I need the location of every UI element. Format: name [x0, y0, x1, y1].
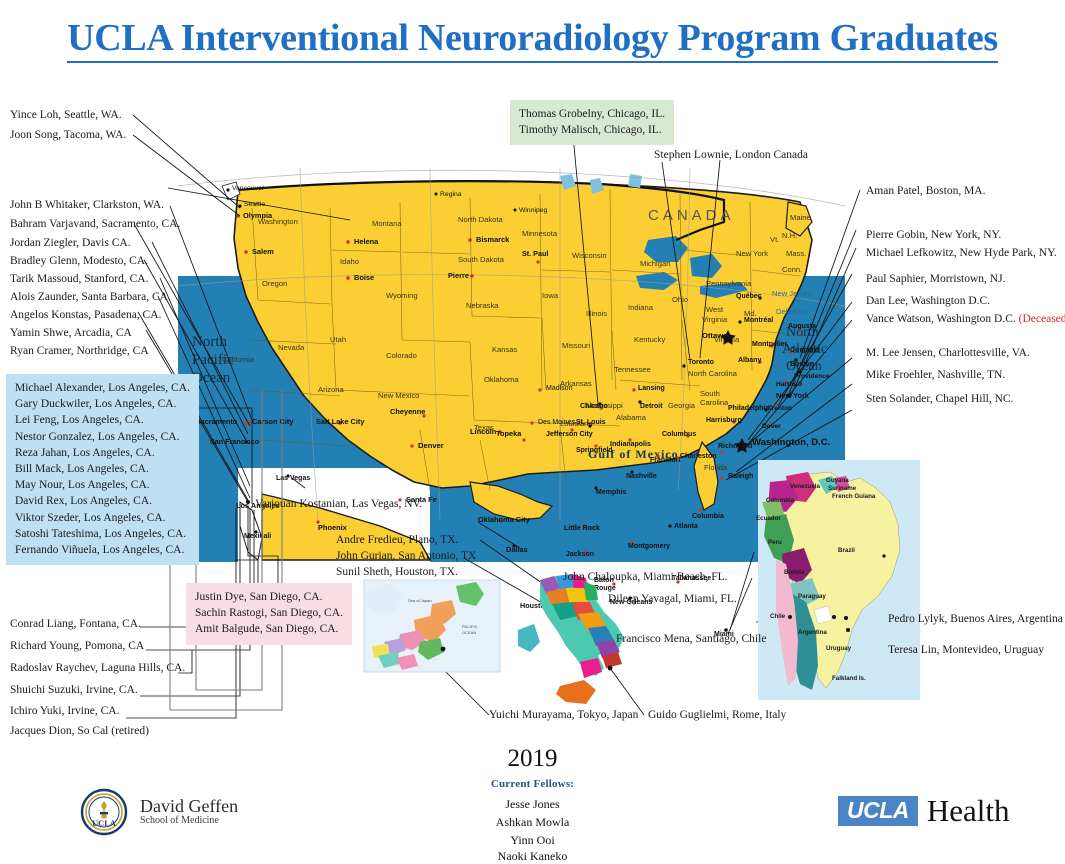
label-ryan-cramer: Ryan Cramer, Northridge, CA	[10, 344, 149, 358]
list-item: Amit Balgude, San Diego, CA.	[195, 621, 343, 637]
list-item: Sachin Rastogi, San Diego, CA.	[195, 605, 343, 621]
label-yince-loh: Yince Loh, Seattle, WA.	[10, 108, 122, 122]
svg-text:Michigan: Michigan	[640, 259, 670, 268]
svg-text:Springfield: Springfield	[576, 447, 613, 454]
svg-text:Ohio: Ohio	[672, 295, 688, 304]
svg-text:New Jersey: New Jersey	[772, 289, 812, 298]
svg-text:Harrisburg: Harrisburg	[706, 417, 742, 424]
svg-text:Jackson: Jackson	[566, 551, 594, 558]
svg-text:Ottawa: Ottawa	[702, 331, 728, 340]
svg-text:Oklahoma City: Oklahoma City	[478, 515, 531, 524]
svg-text:North Carolina: North Carolina	[688, 369, 738, 378]
svg-text:Salt Lake City: Salt Lake City	[316, 417, 365, 426]
svg-text:Lansing: Lansing	[638, 385, 665, 392]
label-andre-fredieu: Andre Fredieu, Plano, TX.	[336, 533, 458, 547]
svg-text:Columbia: Columbia	[692, 513, 724, 520]
svg-text:Venezuela: Venezuela	[790, 483, 820, 490]
svg-text:Helena: Helena	[354, 237, 379, 246]
ucla-seal-icon: UCLA	[80, 788, 128, 836]
label-radoslav-raychev: Radoslav Raychev, Laguna Hills, CA.	[10, 661, 185, 675]
svg-text:Winnipeg: Winnipeg	[519, 207, 548, 214]
logo-ucla-health: UCLA Health	[838, 795, 1010, 826]
list-item: Gary Duckwiler, Los Angeles, CA.	[15, 396, 190, 412]
svg-text:West: West	[706, 305, 724, 314]
svg-text:PACIFIC: PACIFIC	[462, 624, 478, 629]
inset-japan: Sea of Japan PACIFIC OCEAN	[364, 580, 500, 672]
label-sten-solander: Sten Solander, Chapel Hill, NC.	[866, 392, 1013, 406]
svg-text:Topeka: Topeka	[496, 429, 522, 438]
svg-text:Wisconsin: Wisconsin	[572, 251, 607, 260]
label-tarik-massoud: Tarik Massoud, Stanford, CA.	[10, 272, 148, 286]
label-dileep-yavagal: Dileep Yavagal, Miami, FL.	[608, 592, 737, 606]
svg-text:Carson City: Carson City	[252, 417, 294, 426]
svg-text:Indianapolis: Indianapolis	[610, 441, 651, 448]
svg-text:South Dakota: South Dakota	[458, 255, 505, 264]
svg-text:Arizona: Arizona	[318, 385, 345, 394]
canada-label: CANADA	[648, 207, 735, 224]
geffen-line-1: David Geffen	[140, 797, 238, 816]
svg-text:Alabama: Alabama	[616, 413, 647, 422]
svg-text:Peru: Peru	[768, 539, 782, 546]
list-item: Nestor Gonzalez, Los Angeles, CA.	[15, 429, 190, 445]
svg-text:Chile: Chile	[770, 613, 786, 620]
label-varjouan-kostanian: Varjouan Kostanian, Las Vegas, NV.	[255, 497, 422, 511]
svg-text:Oregon: Oregon	[262, 279, 287, 288]
svg-text:Pennsylvania: Pennsylvania	[706, 279, 752, 288]
label-yamin-shwe: Yamin Shwe, Arcadia, CA	[10, 326, 132, 340]
ucla-health-word: Health	[927, 795, 1010, 826]
svg-text:Ecuador: Ecuador	[756, 515, 781, 522]
svg-text:Bismarck: Bismarck	[476, 235, 510, 244]
list-item: May Nour, Los Angeles, CA.	[15, 477, 190, 493]
deceased-tag: (Deceased)	[1019, 313, 1065, 325]
list-item: Satoshi Tateshima, Los Angeles, CA.	[15, 526, 190, 542]
label-michael-lefkowitz: Michael Lefkowitz, New Hyde Park, NY.	[866, 246, 1057, 260]
svg-text:Carolina: Carolina	[700, 398, 729, 407]
svg-text:Concord: Concord	[790, 347, 819, 354]
svg-text:Charleston: Charleston	[680, 453, 717, 460]
svg-text:Kansas: Kansas	[492, 345, 518, 354]
list-item: Thomas Grobelny, Chicago, IL.	[519, 106, 665, 122]
svg-text:New York: New York	[736, 249, 768, 258]
svg-text:Nevada: Nevada	[278, 343, 305, 352]
list-item: Justin Dye, San Diego, CA.	[195, 589, 343, 605]
svg-text:OCEAN: OCEAN	[462, 630, 476, 635]
svg-text:Denver: Denver	[418, 441, 444, 450]
svg-text:Maine: Maine	[790, 213, 811, 222]
label-paul-saphier: Paul Saphier, Morristown, NJ.	[866, 272, 1005, 286]
list-item: Viktor Szeder, Los Angeles, CA.	[15, 510, 190, 526]
svg-text:Montana: Montana	[372, 219, 402, 228]
svg-text:Olympia: Olympia	[243, 211, 273, 220]
label-bahram-varjavand: Bahram Varjavand, Sacramento, CA.	[10, 217, 180, 231]
list-item: Bill Mack, Los Angeles, CA.	[15, 461, 190, 477]
svg-text:Jefferson City: Jefferson City	[546, 431, 593, 438]
svg-text:Virginia: Virginia	[702, 315, 728, 324]
callout-box-chicago: Thomas Grobelny, Chicago, IL. Timothy Ma…	[510, 100, 674, 145]
list-item: David Rex, Los Angeles, CA.	[15, 493, 190, 509]
page-title: UCLA Interventional Neuroradiology Progr…	[0, 16, 1065, 60]
svg-text:Utah: Utah	[330, 335, 346, 344]
label-pedro-lylyk: Pedro Lylyk, Buenos Aires, Argentina	[888, 612, 1063, 626]
svg-text:Oklahoma: Oklahoma	[484, 375, 519, 384]
svg-text:Conn.: Conn.	[782, 265, 802, 274]
svg-text:Phoenix: Phoenix	[318, 523, 348, 532]
svg-text:Rouge: Rouge	[594, 585, 616, 592]
label-alois-zaunder: Alois Zaunder, Santa Barbara, CA.	[10, 290, 171, 304]
svg-text:Argentina: Argentina	[798, 629, 827, 636]
page-title-text: UCLA Interventional Neuroradiology Progr…	[67, 17, 998, 63]
svg-text:Indiana: Indiana	[628, 303, 654, 312]
svg-text:UCLA: UCLA	[92, 819, 116, 828]
list-item: Michael Alexander, Los Angeles, CA.	[15, 380, 190, 396]
label-vance-watson: Vance Watson, Washington D.C. (Deceased)	[866, 312, 1065, 326]
label-teresa-lin: Teresa Lin, Montevideo, Uruguay	[888, 643, 1044, 657]
label-jacques-dion: Jacques Dion, So Cal (retired)	[10, 724, 149, 738]
label-sunil-sheth: Sunil Sheth, Houston, TX.	[336, 565, 458, 579]
svg-text:Boise: Boise	[354, 273, 374, 282]
svg-text:Florida: Florida	[704, 463, 728, 472]
svg-text:Georgia: Georgia	[668, 401, 696, 410]
svg-text:Albany: Albany	[738, 357, 761, 364]
year-label: 2019	[0, 745, 1065, 773]
svg-text:Nebraska: Nebraska	[466, 301, 499, 310]
label-guido-guglielmi: Guido Guglielmi, Rome, Italy	[648, 708, 786, 722]
svg-text:New Mexico: New Mexico	[378, 391, 419, 400]
svg-text:Wyoming: Wyoming	[386, 291, 418, 300]
svg-text:Salem: Salem	[252, 247, 274, 256]
svg-text:Nashville: Nashville	[626, 473, 657, 480]
svg-text:Atlanta: Atlanta	[674, 523, 698, 530]
label-john-b-whitaker: John B Whitaker, Clarkston, WA.	[10, 198, 164, 212]
label-dan-lee: Dan Lee, Washington D.C.	[866, 294, 990, 308]
svg-text:Idaho: Idaho	[340, 257, 359, 266]
ucla-health-badge: UCLA	[838, 796, 918, 826]
svg-text:Vt.: Vt.	[770, 235, 779, 244]
svg-text:Bolivia: Bolivia	[784, 569, 805, 576]
label-francisco-mena: Francisco Mena, Santiago, Chile	[616, 632, 766, 646]
svg-text:Montgomery: Montgomery	[628, 543, 670, 550]
label-shuichi-suzuki: Shuichi Suzuki, Irvine, CA.	[10, 683, 138, 697]
list-item: Fernando Viñuela, Los Angeles, CA.	[15, 542, 190, 558]
label-jordan-ziegler: Jordan Ziegler, Davis CA.	[10, 236, 131, 250]
svg-text:Uruguay: Uruguay	[826, 645, 852, 652]
svg-text:Montréal: Montréal	[744, 317, 773, 324]
label-yuichi-murayama: Yuichi Murayama, Tokyo, Japan	[489, 708, 638, 722]
label-m-lee-jensen: M. Lee Jensen, Charlottesville, VA.	[866, 346, 1030, 360]
svg-text:Pierre: Pierre	[448, 271, 469, 280]
svg-text:North Dakota: North Dakota	[458, 215, 504, 224]
svg-text:Québec: Québec	[736, 293, 762, 300]
svg-text:Tennessee: Tennessee	[614, 365, 651, 374]
svg-text:St. Paul: St. Paul	[522, 249, 548, 258]
svg-text:Montpelier: Montpelier	[752, 341, 788, 348]
svg-text:Regina: Regina	[440, 191, 462, 198]
svg-text:Falkland Is.: Falkland Is.	[832, 675, 866, 682]
label-joon-song: Joon Song, Tacoma, WA.	[10, 128, 126, 142]
fellow-name: Naoki Kaneko	[0, 849, 1065, 864]
svg-text:Vancouver: Vancouver	[232, 185, 265, 192]
svg-text:N.H.: N.H.	[782, 231, 797, 240]
svg-text:Guyana: Guyana	[826, 477, 849, 484]
callout-box-san-diego: Justin Dye, San Diego, CA. Sachin Rastog…	[186, 583, 352, 645]
callout-box-los-angeles: Michael Alexander, Los Angeles, CA. Gary…	[6, 374, 199, 565]
svg-text:Delaware: Delaware	[776, 307, 808, 316]
label-ichiro-yuki: Ichiro Yuki, Irvine, CA.	[10, 704, 119, 718]
label-stephen-lownie: Stephen Lownie, London Canada	[654, 148, 808, 162]
svg-text:Brazil: Brazil	[838, 547, 855, 554]
svg-text:Toronto: Toronto	[688, 359, 714, 366]
logo-david-geffen-school-of-medicine: UCLA David Geffen School of Medicine	[80, 788, 238, 836]
svg-text:California: California	[222, 355, 255, 364]
label-pierre-gobin: Pierre Gobin, New York, NY.	[866, 228, 1001, 242]
label-aman-patel: Aman Patel, Boston, MA.	[866, 184, 985, 198]
inset-south-america: Venezuela Guyana Suriname French Guiana …	[756, 460, 920, 700]
label-john-chaloupka: John Chaloupka, Miami Beach, FL.	[563, 570, 728, 584]
svg-text:Colorado: Colorado	[386, 351, 417, 360]
svg-text:Lincoln: Lincoln	[470, 427, 497, 436]
svg-text:Colombia: Colombia	[766, 497, 795, 504]
svg-text:Minnesota: Minnesota	[522, 229, 558, 238]
svg-text:French Guiana: French Guiana	[832, 493, 876, 500]
label-john-gurian: John Gurian, San Antonio, TX	[336, 549, 476, 563]
svg-text:Little Rock: Little Rock	[564, 525, 600, 532]
svg-text:Iowa: Iowa	[542, 291, 559, 300]
svg-text:Washington, D.C.: Washington, D.C.	[752, 437, 830, 448]
svg-text:Madison: Madison	[546, 385, 573, 392]
label-mike-froehler: Mike Froehler, Nashville, TN.	[866, 368, 1005, 382]
label-bradley-glenn: Bradley Glenn, Modesto, CA.	[10, 254, 148, 268]
svg-text:Sea of Japan: Sea of Japan	[408, 598, 432, 603]
geffen-line-2: School of Medicine	[140, 816, 238, 827]
svg-text:Des Moines: Des Moines	[538, 419, 575, 426]
svg-text:St. Louis: St. Louis	[576, 419, 606, 426]
list-item: Lei Feng, Los Angeles, CA.	[15, 412, 190, 428]
label-richard-young: Richard Young, Pomona, CA	[10, 639, 144, 653]
svg-text:Mass.: Mass.	[786, 249, 806, 258]
list-item: Timothy Malisch, Chicago, IL.	[519, 122, 665, 138]
label-vance-watson-name: Vance Watson, Washington D.C.	[866, 313, 1016, 325]
svg-text:Chicago: Chicago	[580, 403, 608, 410]
svg-text:Missouri: Missouri	[562, 341, 591, 350]
svg-text:Cheyenne: Cheyenne	[390, 407, 425, 416]
list-item: Reza Jahan, Los Angeles, CA.	[15, 445, 190, 461]
svg-text:Philadelphia: Philadelphia	[728, 405, 769, 412]
svg-text:South: South	[700, 389, 720, 398]
label-conrad-liang: Conrad Liang, Fontana, CA.	[10, 617, 141, 631]
svg-text:Suriname: Suriname	[828, 485, 857, 492]
svg-text:Memphis: Memphis	[596, 489, 626, 496]
label-angelos-konstas: Angelos Konstas, Pasadena, CA.	[10, 308, 161, 322]
svg-text:Paraguay: Paraguay	[798, 593, 826, 600]
svg-text:Kentucky: Kentucky	[634, 335, 665, 344]
svg-text:Detroit: Detroit	[640, 403, 663, 410]
svg-text:Columbus: Columbus	[662, 431, 696, 438]
